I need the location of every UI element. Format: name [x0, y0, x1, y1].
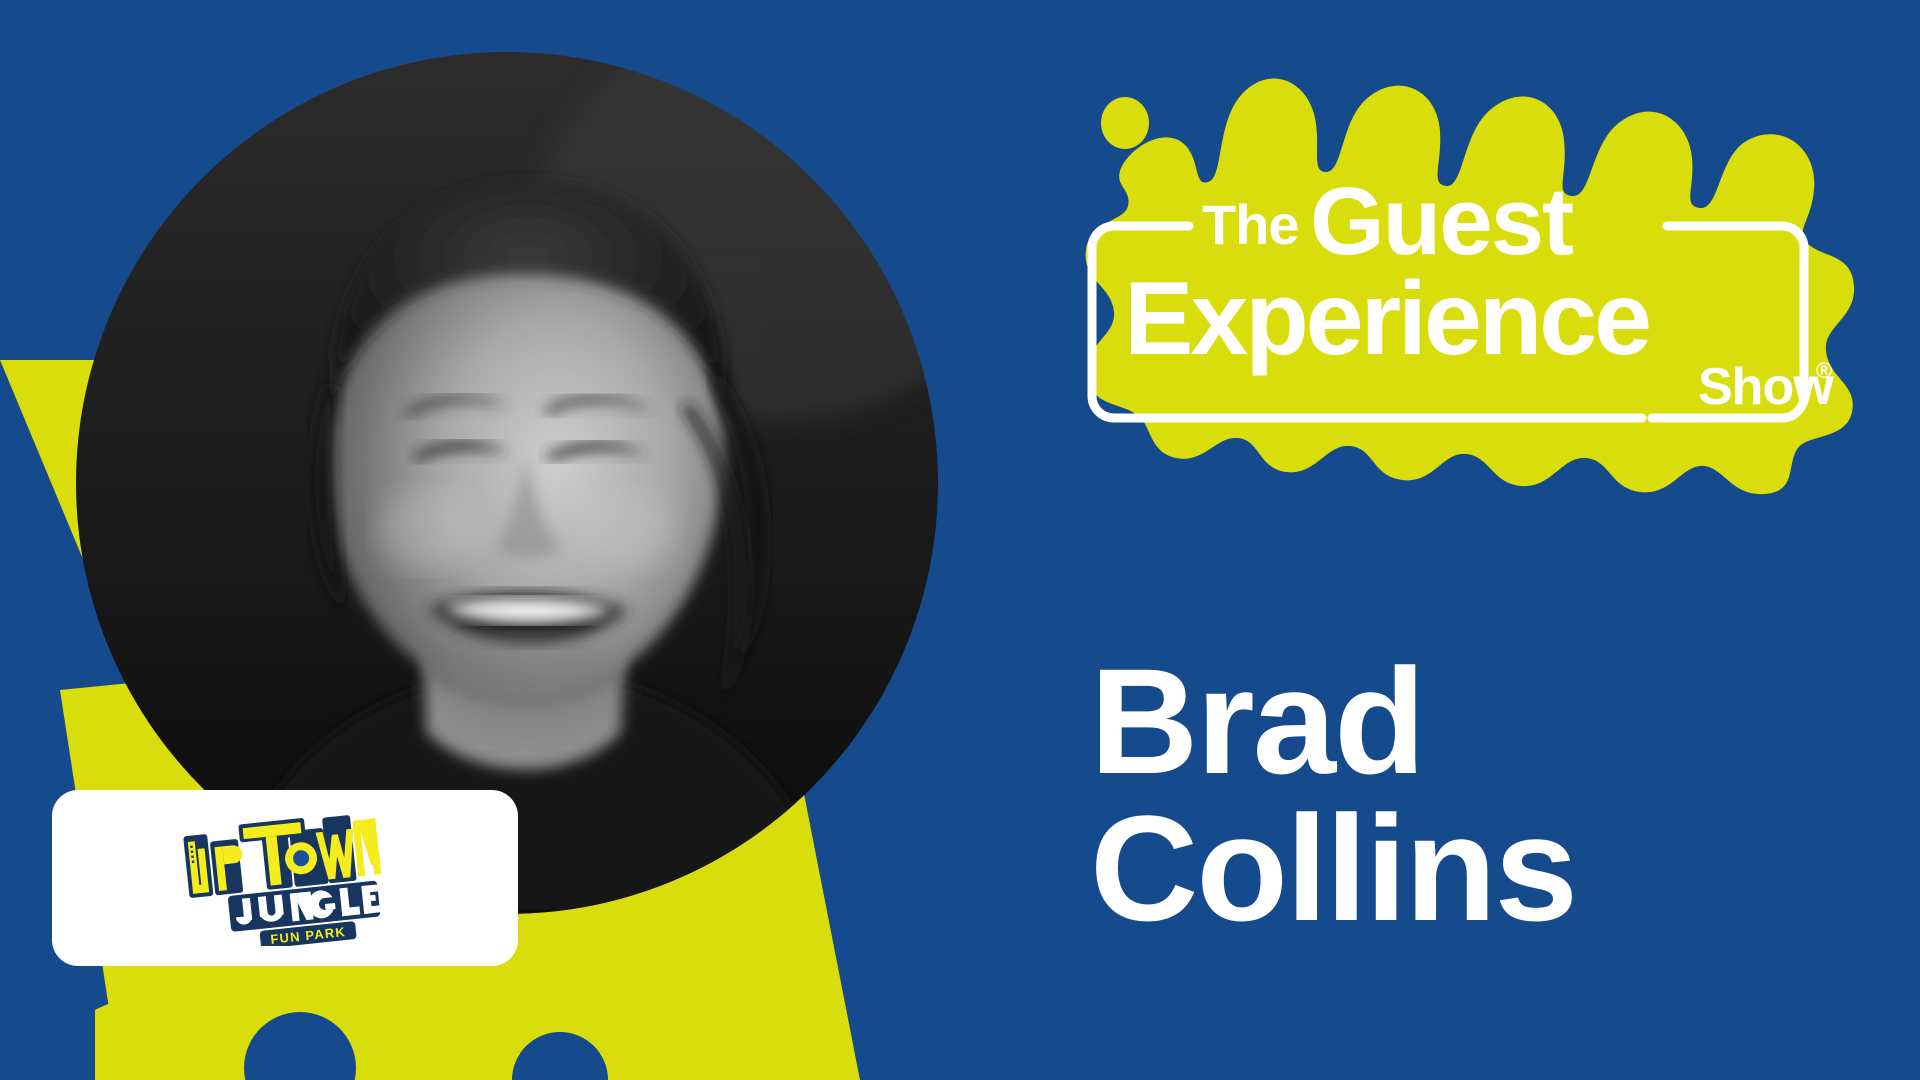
logo-word-guest: Guest	[1310, 168, 1573, 275]
logo-word-show: Show	[1698, 358, 1834, 416]
sponsor-logo-card: FUN PARK	[52, 790, 518, 966]
show-logo: The Guest Experience Show ®	[1082, 48, 1874, 500]
guest-episode-cover: FUN PARK The Guest Experience	[0, 0, 1920, 1080]
guest-first-name: Brad	[1090, 648, 1890, 795]
registered-mark: ®	[1816, 358, 1832, 383]
logo-word-the: The	[1202, 193, 1299, 256]
guest-name: Brad Collins	[1090, 648, 1890, 942]
guest-last-name: Collins	[1090, 795, 1890, 942]
svg-text:FUN PARK: FUN PARK	[270, 924, 347, 946]
guest-photo	[76, 52, 938, 914]
uptown-jungle-fun-park-logo: FUN PARK	[169, 810, 401, 946]
logo-word-experience: Experience	[1124, 261, 1649, 377]
